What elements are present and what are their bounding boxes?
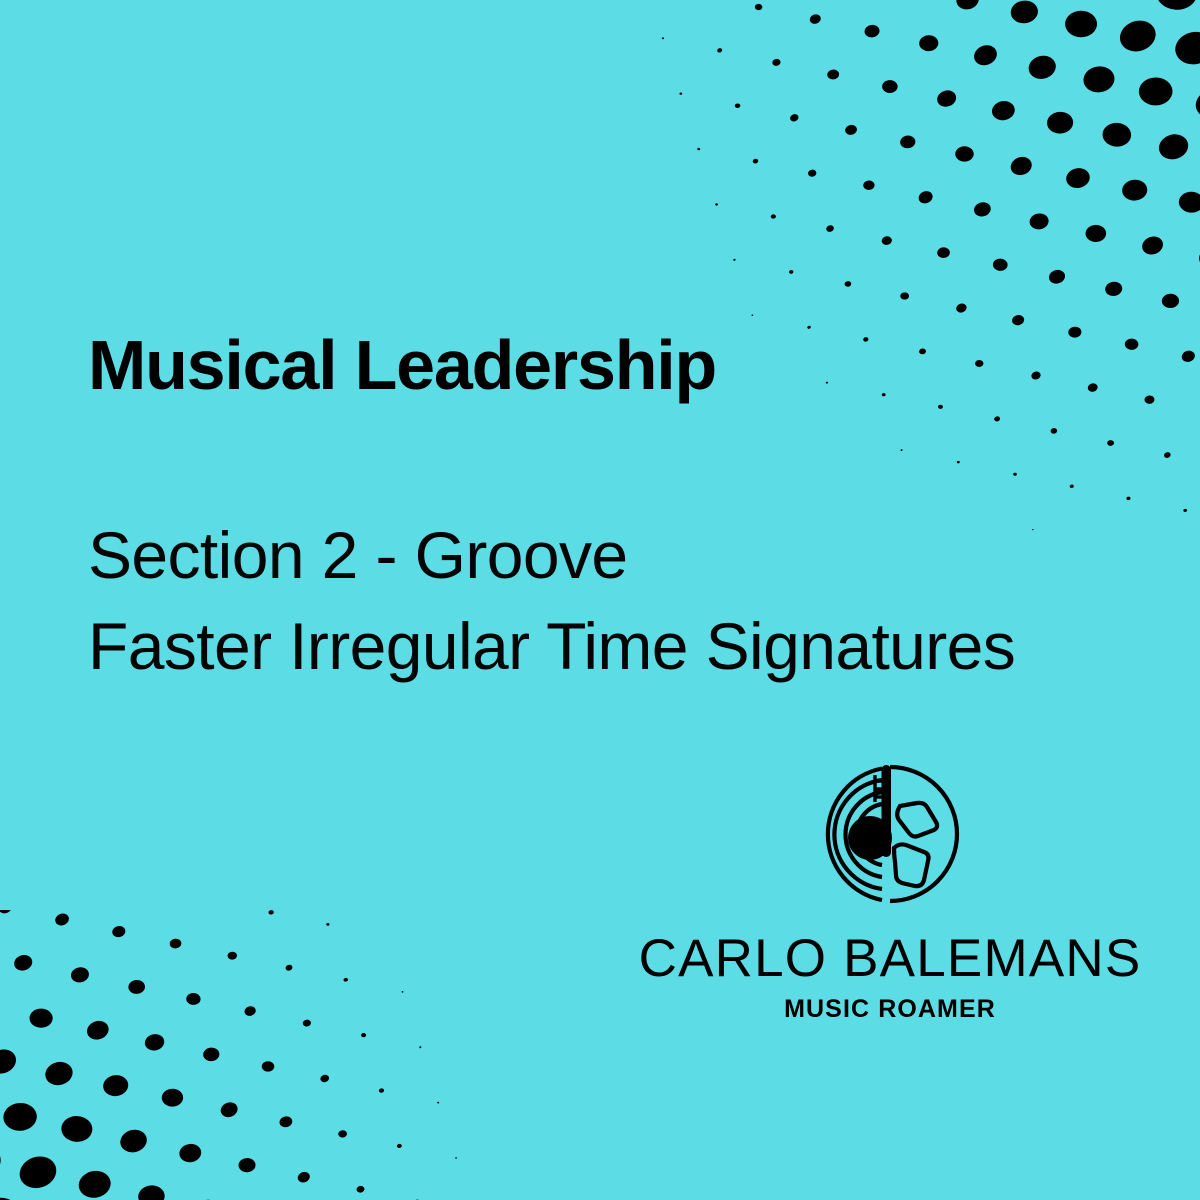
subtitle-line-2: Faster Irregular Time Signatures — [88, 601, 1178, 692]
brand-logo-block: CARLO BALEMANS MUSIC ROAMER — [645, 758, 1135, 1022]
subtitle-line-1: Section 2 - Groove — [88, 510, 1178, 601]
slide-canvas: Musical Leadership Section 2 - Groove Fa… — [0, 0, 1200, 1200]
page-title: Musical Leadership — [88, 330, 1178, 400]
halftone-dots-bottom-left — [0, 910, 480, 1200]
slide-subtitle-block: Section 2 - Groove Faster Irregular Time… — [88, 510, 1178, 692]
slide-text-block: Musical Leadership Section 2 - Groove Fa… — [88, 330, 1178, 692]
vinyl-globe-music-note-icon — [814, 758, 966, 918]
brand-name: CARLO BALEMANS — [639, 932, 1142, 985]
brand-tagline: MUSIC ROAMER — [784, 997, 996, 1022]
